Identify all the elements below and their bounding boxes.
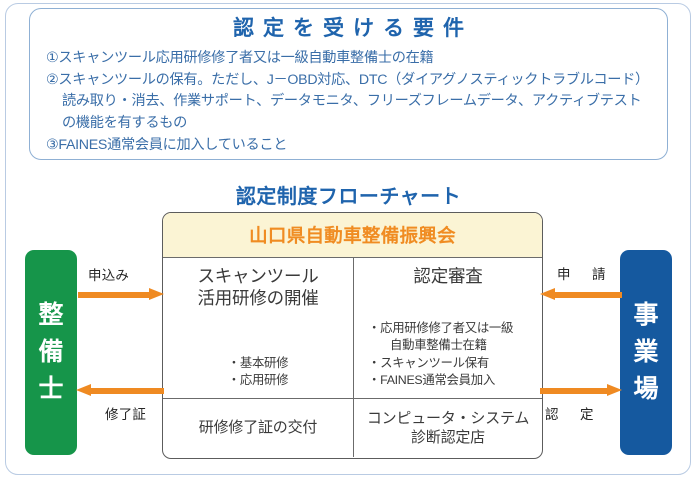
association-header: 山口県自動車整備振興会 xyxy=(163,213,542,258)
actor-business-char-3: 場 xyxy=(633,371,658,408)
review-bullet-3: ・FAINES通常会員加入 xyxy=(368,372,536,390)
association-box: 山口県自動車整備振興会 スキャンツール 活用研修の開催 ・基本研修 ・応用研修 … xyxy=(162,212,543,459)
actor-mechanic-char-2: 備 xyxy=(38,334,63,371)
arrow-certificate-to-mechanic xyxy=(76,384,164,397)
requirements-title: 認定を受ける要件 xyxy=(30,16,667,42)
association-main-row: スキャンツール 活用研修の開催 ・基本研修 ・応用研修 認定審査 ・応用研修修了… xyxy=(163,258,542,399)
actor-business-char-1: 事 xyxy=(633,297,658,334)
training-heading-line2: 活用研修の開催 xyxy=(169,288,347,310)
flowchart-title: 認定制度フローチャート xyxy=(0,180,697,209)
review-bullet-1: ・応用研修修了者又は一級自動車整備士在籍 xyxy=(368,320,536,355)
requirement-item-2: ②スキャンツールの保有。ただし、J－OBD対応、DTC（ダイアグノスティックトラ… xyxy=(46,70,653,135)
arrow-head xyxy=(540,288,555,300)
arrow-shaft xyxy=(78,292,151,298)
arrow-label-request: 申 請 xyxy=(557,263,610,283)
requirement-item-3: ③FAINES通常会員に加入していること xyxy=(46,135,653,157)
requirement-item-1: ①スキャンツール応用研修修了者又は一級自動車整備士の在籍 xyxy=(46,48,653,70)
arrow-shaft xyxy=(553,292,622,298)
arrow-label-apply: 申込み xyxy=(88,264,129,284)
requirements-panel: 認定を受ける要件 ①スキャンツール応用研修修了者又は一級自動車整備士の在籍 ②ス… xyxy=(29,8,668,160)
training-heading-line1: スキャンツール xyxy=(169,266,347,288)
requirements-list: ①スキャンツール応用研修修了者又は一級自動車整備士の在籍 ②スキャンツールの保有… xyxy=(30,48,667,156)
arrow-head xyxy=(607,384,622,396)
flowchart-page: 認定を受ける要件 ①スキャンツール応用研修修了者又は一級自動車整備士の在籍 ②ス… xyxy=(0,0,697,480)
review-cell: 認定審査 ・応用研修修了者又は一級自動車整備士在籍 ・スキャンツール保有 ・FA… xyxy=(354,258,542,398)
actor-mechanic-char-3: 士 xyxy=(38,371,63,408)
requirement-marker-1: ① xyxy=(46,50,58,66)
actor-box-mechanic: 整 備 士 xyxy=(25,250,77,455)
footer-cell-right: コンピュータ・システム 診断認定店 xyxy=(354,399,542,457)
requirement-text-1: スキャンツール応用研修修了者又は一級自動車整備士の在籍 xyxy=(58,50,433,66)
association-footer-row: 研修修了証の交付 コンピュータ・システム 診断認定店 xyxy=(163,399,542,457)
review-heading: 認定審査 xyxy=(360,266,536,288)
actor-mechanic-char-1: 整 xyxy=(38,297,63,334)
arrow-apply-to-association xyxy=(78,288,164,301)
arrow-label-certification: 認 定 xyxy=(545,403,598,423)
review-bullet-1-sub: 自動車整備士在籍 xyxy=(379,337,536,355)
actor-box-business: 事 業 場 xyxy=(620,250,672,455)
requirement-marker-3: ③ xyxy=(46,137,58,153)
requirement-marker-2: ② xyxy=(46,72,58,88)
arrow-shaft xyxy=(89,388,164,394)
training-bullet-1: ・基本研修 xyxy=(169,355,347,373)
footer-right-line2: 診断認定店 xyxy=(367,428,529,448)
review-bullet-2: ・スキャンツール保有 xyxy=(368,355,536,373)
training-cell: スキャンツール 活用研修の開催 ・基本研修 ・応用研修 xyxy=(163,258,354,398)
review-bullets: ・応用研修修了者又は一級自動車整備士在籍 ・スキャンツール保有 ・FAINES通… xyxy=(360,320,536,390)
arrow-certification-to-business xyxy=(540,384,622,397)
arrow-label-certificate: 修了証 xyxy=(105,403,146,423)
requirement-text-3: FAINES通常会員に加入していること xyxy=(58,137,287,153)
footer-cell-left: 研修修了証の交付 xyxy=(163,399,354,457)
arrow-shaft xyxy=(540,388,609,394)
footer-right-line1: コンピュータ・システム xyxy=(367,409,529,429)
training-heading: スキャンツール 活用研修の開催 xyxy=(169,266,347,309)
training-bullets: ・基本研修 ・応用研修 xyxy=(169,355,347,390)
review-bullet-1-main: ・応用研修修了者又は一級 xyxy=(368,321,513,335)
actor-business-char-2: 業 xyxy=(633,334,658,371)
requirement-text-2: スキャンツールの保有。ただし、J－OBD対応、DTC（ダイアグノスティックトラブ… xyxy=(58,72,649,131)
arrow-head xyxy=(76,384,91,396)
arrow-request-from-business xyxy=(540,288,622,301)
arrow-head xyxy=(149,288,164,300)
training-bullet-2: ・応用研修 xyxy=(169,372,347,390)
